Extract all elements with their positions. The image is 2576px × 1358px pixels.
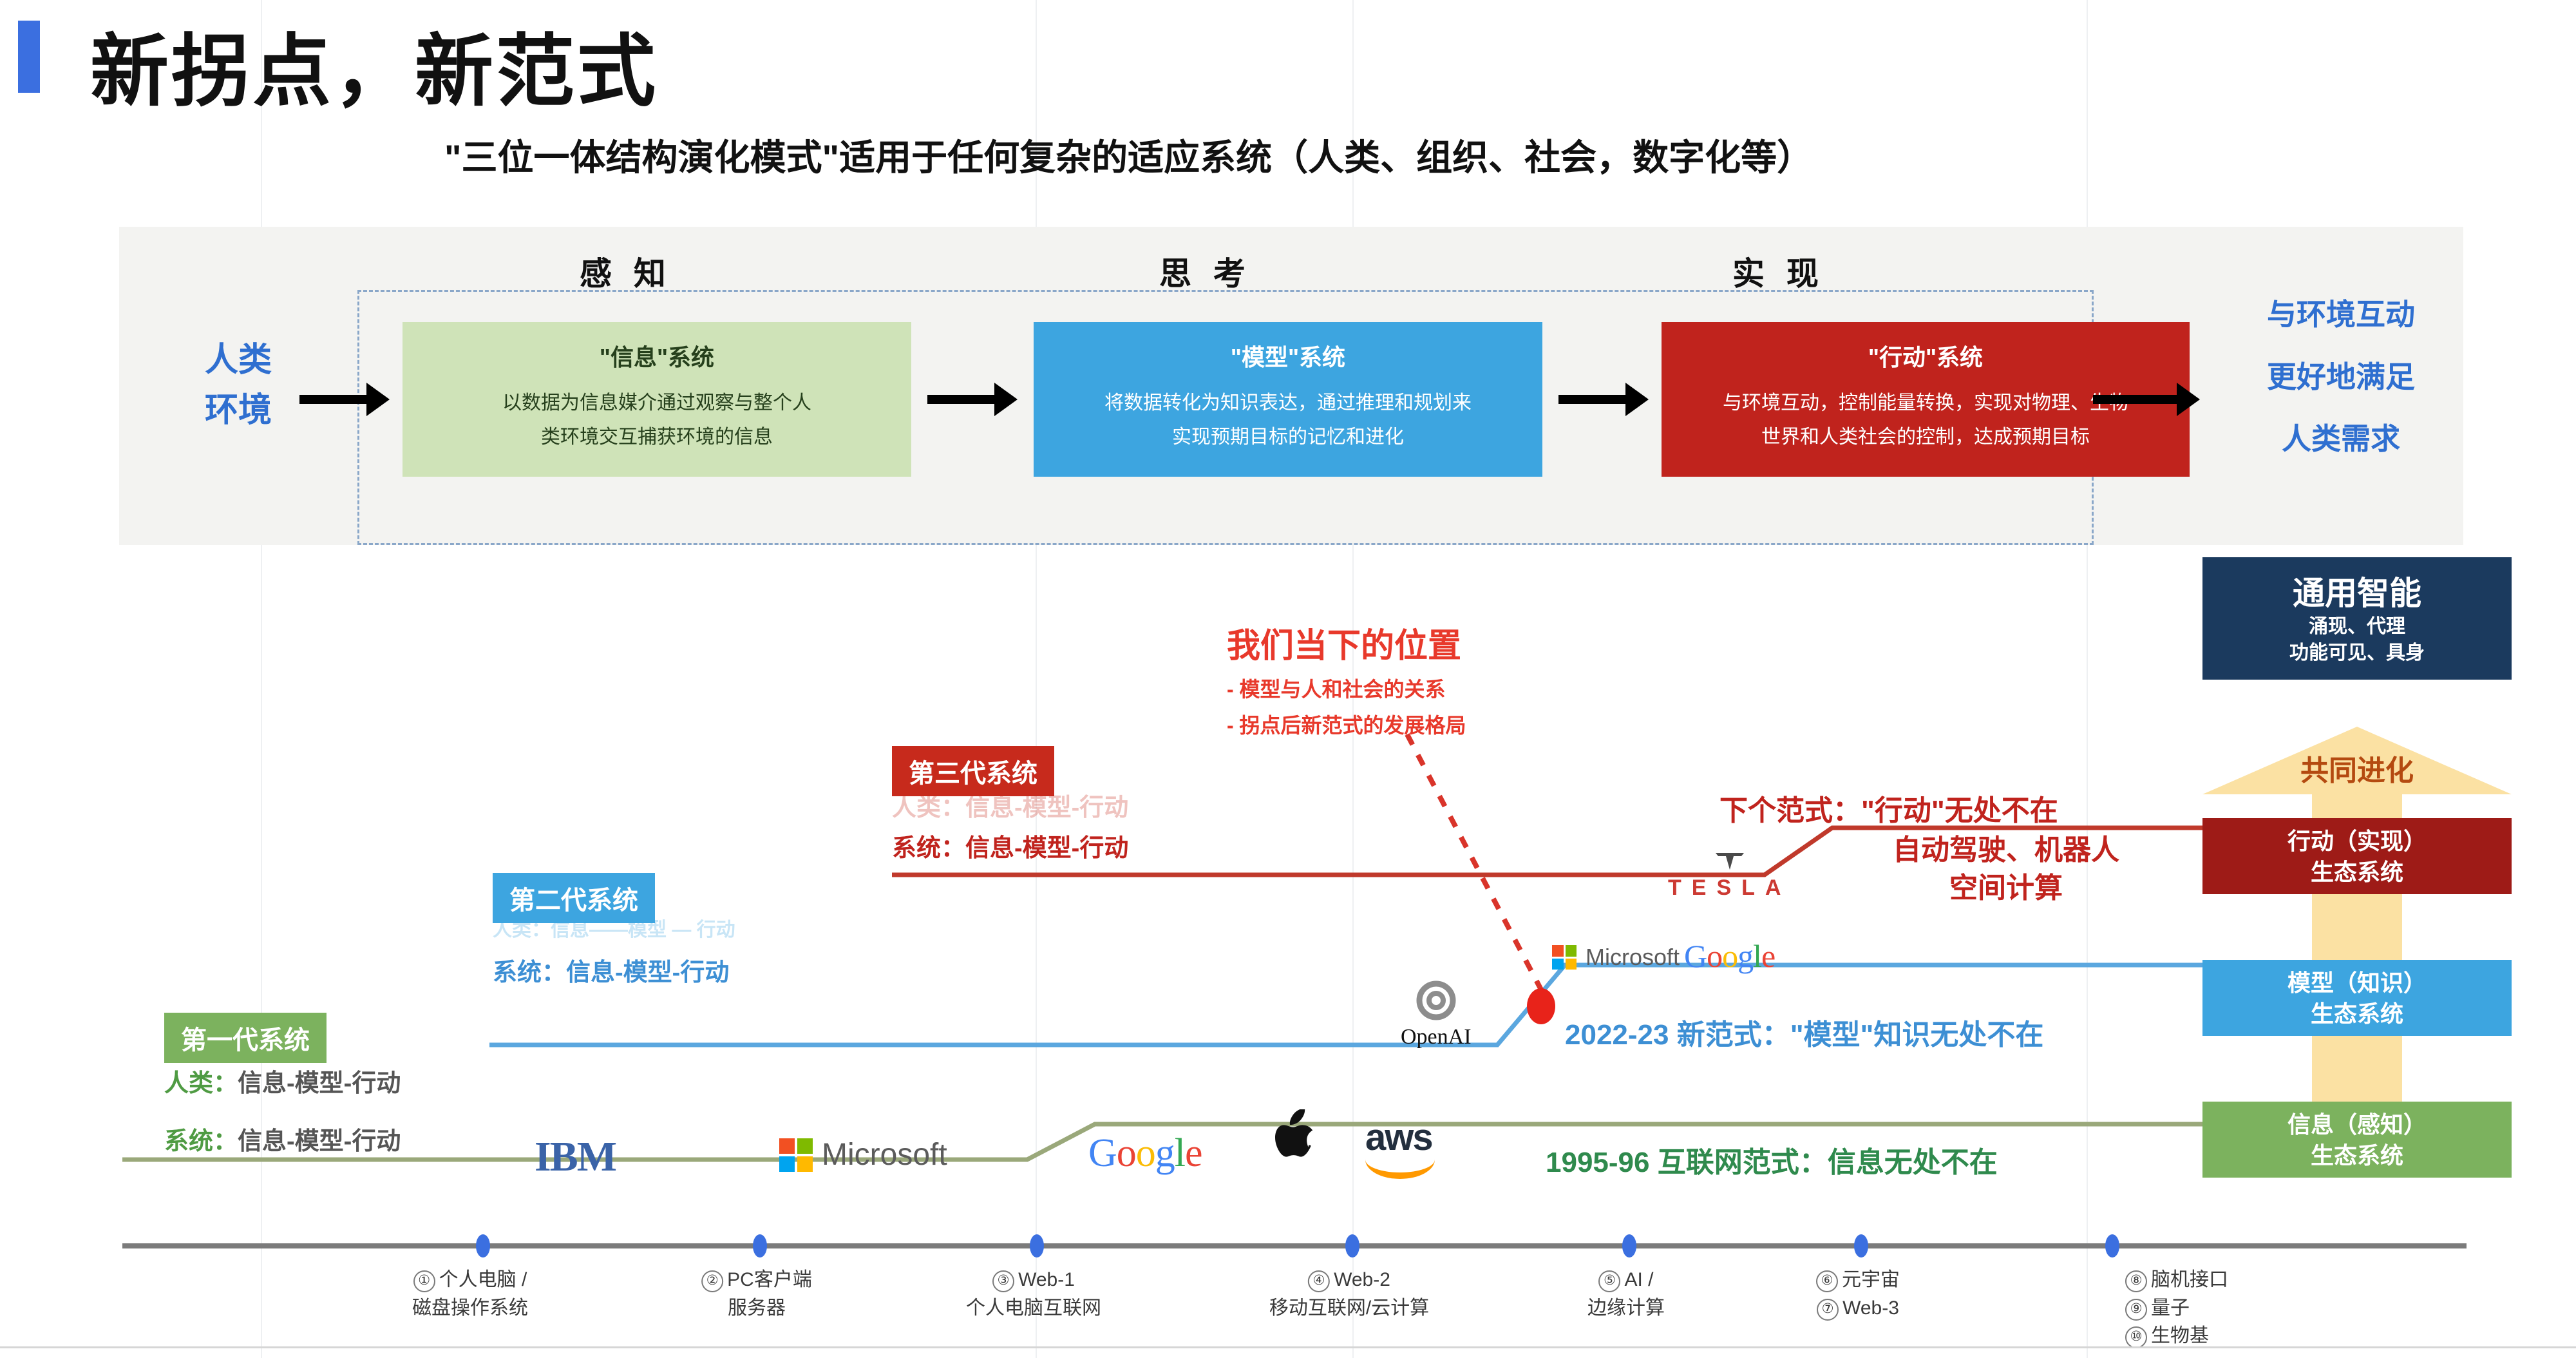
agi-box: 通用智能 涌现、代理 功能可见、具身	[2202, 557, 2512, 680]
timeline-label-3b: 个人电脑互联网	[966, 1294, 1101, 1323]
model-system-heading: "模型"系统	[1048, 339, 1528, 372]
timeline-num-4: ④	[1308, 1270, 1330, 1292]
microsoft-squares-icon-2	[779, 1138, 813, 1172]
agi-title: 通用智能	[2202, 568, 2512, 614]
microsoft-wordmark-2: Microsoft	[1586, 944, 1680, 971]
timeline-label-7b: 量子	[2151, 1297, 2190, 1319]
paradigm-2022-text: 2022-23 新范式："模型"知识无处不在	[1565, 1011, 2043, 1053]
generation-1-system-value: 信息-模型-行动	[238, 1128, 401, 1155]
generation-2-human-line: 人类：信息——模型 — 行动	[493, 913, 735, 942]
phase-label-realize: 实 现	[1732, 248, 1825, 294]
tesla-mark-icon	[1710, 850, 1749, 872]
ecosystem-action-line2: 生态系统	[2202, 857, 2512, 888]
model-system-body-line1: 将数据转化为知识表达，通过推理和规划来	[1048, 387, 1528, 421]
information-system-body-line1: 以数据为信息媒介通过观察与整个人	[417, 387, 897, 421]
ecosystem-action-line1: 行动（实现）	[2202, 826, 2512, 857]
model-system-body-line2: 实现预期目标的记忆和进化	[1048, 421, 1528, 455]
outcome-line-2: 更好地满足	[2202, 346, 2479, 408]
paradigm-next-detail: 自动驾驶、机器人 空间计算	[1826, 831, 2186, 908]
timeline-num-7: ⑦	[1817, 1299, 1839, 1321]
generation-2-system-value: 信息-模型-行动	[566, 959, 729, 986]
generation-3-human-line: 人类：信息-模型-行动	[892, 787, 1128, 823]
generation-1-human-label: 人类：	[164, 1070, 238, 1097]
timeline-label-4a: Web-2	[1334, 1269, 1390, 1290]
generation-3-system-label: 系统：	[892, 835, 965, 862]
timeline-item-6[interactable]: ⑥元宇宙 ⑦Web-3	[1816, 1266, 1900, 1322]
timeline-num-8: ⑧	[2125, 1270, 2147, 1292]
information-system-box: "信息"系统 以数据为信息媒介通过观察与整个人 类环境交互捕获环境的信息	[402, 322, 911, 477]
timeline-label-5b: 边缘计算	[1587, 1294, 1665, 1323]
generation-1-system-line: 系统：信息-模型-行动	[164, 1121, 401, 1156]
generation-3-system-line: 系统：信息-模型-行动	[892, 828, 1128, 863]
ecosystem-model-line1: 模型（知识）	[2202, 968, 2512, 999]
timeline-dot-6[interactable]	[1854, 1234, 1868, 1258]
apple-mark-icon	[1272, 1109, 1320, 1166]
timeline-dot-2[interactable]	[753, 1234, 767, 1258]
current-position-annotation: 我们当下的位置 - 模型与人和社会的关系 - 拐点后新范式的发展格局	[1227, 618, 1466, 739]
paradigm-next-detail-line1: 自动驾驶、机器人	[1826, 831, 2186, 869]
microsoft-logo: Microsoft	[779, 1137, 947, 1172]
aws-smile-icon	[1365, 1156, 1435, 1179]
generation-1-human-value: 信息-模型-行动	[238, 1070, 401, 1097]
aws-logo: aws	[1365, 1121, 1435, 1179]
page-title: 新拐点，新范式	[90, 8, 658, 122]
action-system-body-line2: 世界和人类社会的控制，达成预期目标	[1676, 421, 2175, 455]
ecosystem-information-line1: 信息（感知）	[2202, 1109, 2512, 1140]
ibm-logo: IBM	[535, 1133, 616, 1181]
timeline-item-4[interactable]: ④Web-2 移动互联网/云计算	[1269, 1266, 1429, 1322]
timeline-dot-1[interactable]	[476, 1234, 490, 1258]
timeline-label-5a: AI /	[1624, 1269, 1653, 1290]
outcome-benefit-text: 与环境互动 更好地满足 人类需求	[2202, 283, 2479, 470]
phase-label-perceive: 感 知	[580, 248, 672, 294]
human-environment-line1: 人类	[164, 335, 312, 385]
timeline-num-9: ⑨	[2125, 1299, 2147, 1321]
information-system-heading: "信息"系统	[417, 339, 897, 372]
guide-line	[1036, 0, 1037, 1358]
phase-label-think: 思 考	[1159, 248, 1252, 294]
timeline-label-6b: Web-3	[1842, 1297, 1899, 1319]
google-logo-2: Google	[1684, 937, 1775, 975]
timeline-label-1a: 个人电脑 /	[439, 1269, 527, 1290]
generation-2-system-label: 系统：	[493, 959, 566, 986]
title-accent-bar	[18, 21, 40, 93]
timeline-label-6a: 元宇宙	[1842, 1269, 1900, 1290]
timeline-item-5[interactable]: ⑤AI / 边缘计算	[1587, 1266, 1665, 1322]
openai-logo: OpenAI	[1401, 979, 1472, 1049]
paradigm-next-text: 下个范式："行动"无处不在	[1719, 787, 2058, 828]
openai-wordmark: OpenAI	[1401, 1025, 1472, 1049]
timeline-dot-5[interactable]	[1622, 1234, 1636, 1258]
generation-1-human-line: 人类：信息-模型-行动	[164, 1063, 401, 1098]
aws-wordmark: aws	[1365, 1121, 1435, 1154]
timeline-num-1: ①	[413, 1270, 435, 1292]
timeline-item-7[interactable]: ⑧脑机接口 ⑨量子 ⑩生物基	[2125, 1266, 2228, 1350]
microsoft-squares-icon	[1552, 945, 1577, 970]
apple-logo	[1272, 1109, 1320, 1173]
ecosystem-model-box: 模型（知识） 生态系统	[2202, 960, 2512, 1036]
timeline-label-7c: 生物基	[2151, 1325, 2209, 1346]
timeline-dot-7[interactable]	[2105, 1234, 2119, 1258]
human-environment-line2: 环境	[164, 385, 312, 435]
guide-line	[2087, 0, 2088, 1358]
timeline-num-2: ②	[701, 1270, 723, 1292]
model-system-box: "模型"系统 将数据转化为知识表达，通过推理和规划来 实现预期目标的记忆和进化	[1034, 322, 1542, 477]
slide-root: 新拐点，新范式 "三位一体结构演化模式"适用于任何复杂的适应系统（人类、组织、社…	[0, 0, 2576, 1358]
outcome-line-1: 与环境互动	[2202, 283, 2479, 346]
timeline-label-2b: 服务器	[701, 1294, 812, 1323]
tesla-wordmark: TESLA	[1668, 875, 1791, 901]
paradigm-1995-text: 1995-96 互联网范式：信息无处不在	[1546, 1139, 1998, 1180]
timeline-num-5: ⑤	[1598, 1270, 1620, 1292]
page-subtitle: "三位一体结构演化模式"适用于任何复杂的适应系统（人类、组织、社会，数字化等）	[444, 129, 1813, 181]
action-system-heading: "行动"系统	[1676, 339, 2175, 372]
timeline-label-7a: 脑机接口	[2151, 1269, 2228, 1290]
timeline-label-1b: 磁盘操作系统	[412, 1294, 528, 1323]
timeline-dot-4[interactable]	[1345, 1234, 1359, 1258]
human-environment-label: 人类 环境	[164, 335, 312, 435]
ecosystem-information-line2: 生态系统	[2202, 1140, 2512, 1171]
timeline-label-3a: Web-1	[1018, 1269, 1075, 1290]
current-position-marker	[1527, 988, 1555, 1024]
current-position-bullet-2: - 拐点后新范式的发展格局	[1227, 709, 1466, 739]
timeline-label-4b: 移动互联网/云计算	[1269, 1294, 1429, 1323]
openai-mark-icon	[1415, 979, 1457, 1022]
ecosystem-model-line2: 生态系统	[2202, 999, 2512, 1029]
coevolution-label: 共同进化	[2202, 747, 2512, 789]
timeline-item-1[interactable]: ①个人电脑 / 磁盘操作系统	[412, 1266, 528, 1322]
generation-1-system-label: 系统：	[164, 1128, 238, 1155]
generation-1-tag: 第一代系统	[164, 1013, 327, 1063]
agi-sub-line2: 功能可见、具身	[2202, 640, 2512, 667]
ecosystem-action-box: 行动（实现） 生态系统	[2202, 818, 2512, 894]
timeline-num-3: ③	[992, 1270, 1014, 1292]
ecosystem-information-box: 信息（感知） 生态系统	[2202, 1102, 2512, 1178]
information-system-body-line2: 类环境交互捕获环境的信息	[417, 421, 897, 455]
microsoft-wordmark: Microsoft	[822, 1137, 947, 1172]
agi-sub-line1: 涌现、代理	[2202, 614, 2512, 640]
timeline-label-2a: PC客户端	[727, 1269, 812, 1290]
timeline-num-10: ⑩	[2125, 1326, 2147, 1348]
timeline-item-2[interactable]: ②PC客户端 服务器	[701, 1266, 812, 1322]
generation-2-system-line: 系统：信息-模型-行动	[493, 952, 729, 988]
tesla-logo: TESLA	[1668, 850, 1791, 901]
current-position-heading: 我们当下的位置	[1227, 618, 1466, 667]
google-logo: Google	[1088, 1131, 1202, 1176]
generation-3-system-value: 信息-模型-行动	[965, 835, 1128, 862]
paradigm-next-detail-line2: 空间计算	[1826, 869, 2186, 907]
timeline-dot-3[interactable]	[1030, 1234, 1044, 1258]
outcome-line-3: 人类需求	[2202, 408, 2479, 470]
here-pointer-dotted-line	[1407, 734, 1542, 992]
timeline-item-3[interactable]: ③Web-1 个人电脑互联网	[966, 1266, 1101, 1322]
microsoft-logo-2: Microsoft	[1552, 944, 1680, 971]
current-position-bullet-1: - 模型与人和社会的关系	[1227, 673, 1466, 703]
timeline-num-6: ⑥	[1816, 1270, 1838, 1292]
bottom-divider	[0, 1346, 2576, 1348]
